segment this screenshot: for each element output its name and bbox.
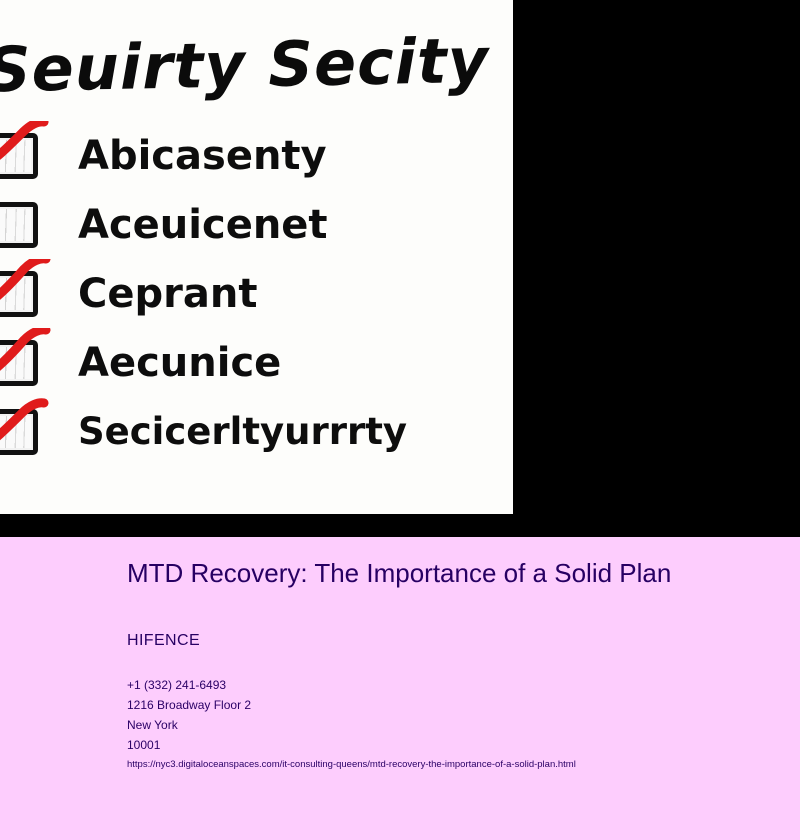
- hero-heading-text: Seuirty Secity: [0, 17, 513, 118]
- checkbox-1: [0, 133, 38, 179]
- contact-phone: +1 (332) 241-6493: [127, 675, 251, 695]
- checkbox-2: [0, 202, 38, 248]
- checklist-item: Ceprant: [0, 263, 513, 332]
- contact-street: 1216 Broadway Floor 2: [127, 695, 251, 715]
- page-title: MTD Recovery: The Importance of a Solid …: [127, 558, 752, 589]
- contact-details: +1 (332) 241-6493 1216 Broadway Floor 2 …: [127, 675, 251, 755]
- checkbox-5: [0, 409, 38, 455]
- hero-image: Seuirty Secity Abicasenty Aceuicenet: [0, 0, 513, 514]
- checklist-label-5: Secicerltyurrrty: [78, 401, 407, 463]
- contact-zip: 10001: [127, 735, 251, 755]
- checklist-label-4: Aecunice: [78, 332, 281, 394]
- content-block: MTD Recovery: The Importance of a Solid …: [0, 537, 800, 840]
- source-url-link[interactable]: https://nyc3.digitaloceanspaces.com/it-c…: [127, 758, 576, 771]
- checklist-label-1: Abicasenty: [78, 125, 327, 187]
- checkbox-3: [0, 271, 38, 317]
- checkbox-texture: [0, 347, 31, 379]
- checkbox-texture: [0, 140, 31, 172]
- checkbox-4: [0, 340, 38, 386]
- contact-city: New York: [127, 715, 251, 735]
- checklist-item: Aecunice: [0, 332, 513, 401]
- checkbox-texture: [0, 278, 31, 310]
- checkbox-texture: [0, 209, 31, 241]
- brand-name: HIFENCE: [127, 631, 200, 651]
- checklist-item: Abicasenty: [0, 125, 513, 194]
- checklist-item: Aceuicenet: [0, 194, 513, 263]
- media-band: Seuirty Secity Abicasenty Aceuicenet: [0, 0, 800, 537]
- checklist-label-3: Ceprant: [78, 263, 257, 325]
- checklist-item: Secicerltyurrrty: [0, 401, 513, 470]
- hero-checklist: Abicasenty Aceuicenet Ceprant: [0, 125, 513, 470]
- checkbox-texture: [0, 416, 31, 448]
- checklist-label-2: Aceuicenet: [78, 194, 328, 256]
